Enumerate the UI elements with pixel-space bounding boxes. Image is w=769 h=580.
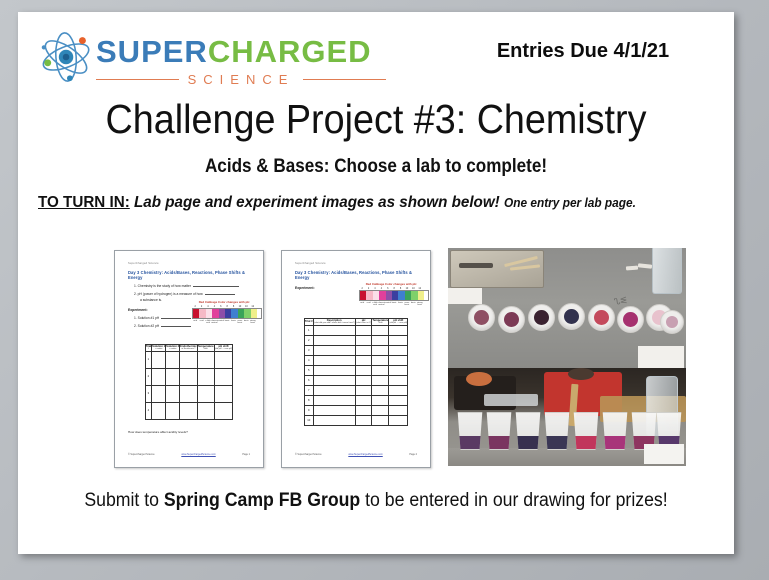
ws2-th: pH(what color is it?) — [355, 319, 372, 326]
ws2-cell[interactable]: 7 — [304, 385, 313, 395]
table-row[interactable]: 4 — [145, 402, 233, 419]
ws2-cell[interactable] — [355, 395, 372, 405]
logo-science-line: SCIENCE — [96, 70, 386, 88]
cup-side-5 — [572, 412, 600, 450]
page-subtitle: Acids & Bases: Choose a lab to complete! — [54, 156, 698, 178]
submit-before: Submit to — [84, 490, 164, 511]
ws2-cell[interactable] — [313, 365, 355, 375]
worksheet-page-2[interactable]: SuperCharged Science Day 3 Chemistry: Ac… — [281, 250, 431, 468]
table-row[interactable]: 9 — [304, 405, 407, 415]
cup-side-2 — [485, 412, 513, 450]
ws1-ph-chart: Red Cabbage Color changes with pH 224468… — [186, 300, 262, 324]
ws2-cell[interactable] — [313, 345, 355, 355]
ws2-cell[interactable] — [313, 385, 355, 395]
worksheet-page-1[interactable]: SuperCharged Science Day 3 Chemistry: Ac… — [114, 250, 264, 468]
table-row[interactable]: 3 — [304, 345, 407, 355]
ws2-cell[interactable] — [355, 335, 372, 345]
ws2-cell[interactable] — [389, 415, 408, 425]
cup-overhead-2 — [498, 306, 525, 333]
ws2-cell[interactable] — [389, 335, 408, 345]
ws2-table-header-row: Trial #Description(what did you add? whe… — [304, 319, 407, 326]
ws2-cell[interactable] — [372, 375, 389, 385]
logo-rule-right — [303, 79, 386, 80]
slide-card: SUPERCHARGED SCIENCE Entries Due 4/1/21 … — [18, 12, 734, 554]
ws2-cell[interactable]: 8 — [304, 395, 313, 405]
ws2-table-body: 12345678910 — [304, 325, 407, 425]
ws2-cell[interactable]: 6 — [304, 375, 313, 385]
ws2-cell[interactable] — [389, 365, 408, 375]
ws1-solution-2: 2. Solution #2 pH — [134, 324, 258, 328]
ws2-th: pH shift(old pH → new pH) — [389, 319, 408, 326]
cup-side-4 — [543, 412, 571, 450]
ws2-cell[interactable] — [389, 375, 408, 385]
ws2-cell[interactable]: 5 — [304, 365, 313, 375]
ws2-table-wrap: Trial #Description(what did you add? whe… — [291, 318, 421, 426]
ws2-cell[interactable] — [389, 345, 408, 355]
photo-stack: ᔐᓬ — [448, 248, 686, 466]
ws1-item-1: 1. Chemistry is the study of how matter — [134, 284, 258, 288]
ws1-cell[interactable] — [180, 385, 197, 402]
logo-rule-left — [96, 79, 179, 80]
ws2-cell[interactable] — [372, 325, 389, 335]
ws1-cell[interactable] — [180, 368, 197, 385]
table-row[interactable]: 8 — [304, 395, 407, 405]
cup-side-6 — [601, 412, 629, 450]
ws2-cell[interactable] — [372, 385, 389, 395]
supercharged-science-logo: SUPERCHARGED SCIENCE — [30, 26, 395, 88]
ws1-cell[interactable] — [152, 351, 166, 368]
ws1-ph-numbers: 2244688101012 — [192, 305, 262, 308]
ws1-footer: © Supercharged Science www.SuperchargedS… — [128, 453, 250, 456]
ws2-footer-page: Page 2 — [409, 453, 417, 456]
photo-tray — [450, 250, 544, 288]
ws1-cell[interactable] — [166, 351, 180, 368]
table-row[interactable]: 2 — [304, 335, 407, 345]
turn-in-note: One entry per lab page. — [504, 196, 636, 210]
ws1-ph-chart-title: Red Cabbage Color changes with pH — [186, 300, 262, 304]
table-row[interactable]: 6 — [304, 375, 407, 385]
ws2-cell[interactable] — [355, 415, 372, 425]
ws2-cell[interactable] — [355, 385, 372, 395]
ws2-cell[interactable] — [313, 335, 355, 345]
ws2-cell[interactable] — [313, 395, 355, 405]
turn-in-main: Lab page and experiment images as shown … — [134, 194, 500, 211]
ws2-cell[interactable] — [389, 385, 408, 395]
cup-side-1 — [456, 412, 484, 450]
ws2-cell[interactable] — [372, 405, 389, 415]
ws1-cell[interactable] — [180, 402, 197, 419]
ws1-ph-strip — [192, 308, 262, 319]
ws1-cell[interactable] — [166, 385, 180, 402]
ws1-table-body: 1234 — [145, 351, 233, 419]
logo-word-super: SUPER — [96, 34, 208, 69]
ws1-cell[interactable] — [152, 385, 166, 402]
photo-cups-side[interactable] — [448, 368, 686, 466]
ws2-cell[interactable] — [389, 355, 408, 365]
atom-icon — [38, 30, 96, 84]
ws2-ph-chart: Red Cabbage Color changes with pH 224468… — [353, 282, 429, 306]
cup-overhead-6 — [617, 306, 644, 333]
ws1-cell[interactable] — [197, 351, 214, 368]
turn-in-instructions: TO TURN IN: Lab page and experiment imag… — [38, 194, 703, 212]
ws2-cell[interactable] — [313, 355, 355, 365]
ws2-cell[interactable] — [355, 405, 372, 415]
page-title: Challenge Project #3: Chemistry — [47, 96, 706, 143]
ws2-cell[interactable] — [313, 415, 355, 425]
cup-overhead-4 — [558, 303, 585, 330]
ws2-cell[interactable] — [313, 325, 355, 335]
ws2-footer: © Supercharged Science www.SuperchargedS… — [295, 453, 417, 456]
ws1-footer-page: Page 1 — [242, 453, 250, 456]
table-row[interactable]: 1 — [145, 351, 233, 368]
ws1-item-2: 2. pH (power of hydrogen) is a measure o… — [134, 292, 258, 296]
ws1-cell[interactable] — [180, 351, 197, 368]
ws2-cell[interactable] — [372, 345, 389, 355]
ws2-cell[interactable] — [355, 375, 372, 385]
photo-cups-overhead[interactable]: ᔐᓬ — [448, 248, 686, 368]
table-row[interactable]: 7 — [304, 385, 407, 395]
ws2-cell[interactable] — [389, 405, 408, 415]
ws1-th: Endothermicor Exothermic? — [180, 345, 197, 352]
submit-after: to be entered in our drawing for prizes! — [360, 490, 667, 511]
ws2-cell[interactable]: 9 — [304, 405, 313, 415]
ws2-heading: Day 3 Chemistry: Acids/Bases, Reactions,… — [295, 270, 425, 280]
ws1-heading: Day 3 Chemistry: Acids/Bases, Reactions,… — [128, 270, 258, 280]
table-row[interactable]: 1 — [304, 325, 407, 335]
ws1-brand: SuperCharged Science — [128, 262, 258, 265]
ws2-cell[interactable] — [372, 395, 389, 405]
table-row[interactable]: 4 — [304, 355, 407, 365]
cup-overhead-5 — [588, 304, 615, 331]
ws1-table-header-row: Trial#Solution 1+ matterSolution 2+ matt… — [145, 345, 233, 352]
ws1-cell[interactable] — [197, 385, 214, 402]
logo-word-science: SCIENCE — [188, 72, 295, 87]
table-row[interactable]: 3 — [145, 385, 233, 402]
ws2-cell[interactable] — [355, 365, 372, 375]
cup-side-3 — [514, 412, 542, 450]
entries-due-text: Entries Due 4/1/21 — [448, 40, 718, 63]
ws1-cell[interactable] — [197, 368, 214, 385]
ws1-cell[interactable] — [214, 368, 233, 385]
media-row: SuperCharged Science Day 3 Chemistry: Ac… — [76, 234, 686, 456]
submit-instructions: Submit to Spring Camp FB Group to be ent… — [43, 490, 709, 512]
ws2-cell[interactable] — [372, 415, 389, 425]
ws2-cell[interactable] — [355, 355, 372, 365]
ws1-footer-url[interactable]: www.SuperchargedScience.com — [181, 453, 215, 456]
ws1-table[interactable]: Trial#Solution 1+ matterSolution 2+ matt… — [145, 344, 234, 420]
ws1-cell[interactable] — [214, 385, 233, 402]
ws1-cell[interactable] — [152, 368, 166, 385]
ws2-cell[interactable] — [355, 345, 372, 355]
ws2-cell[interactable]: 10 — [304, 415, 313, 425]
ws2-cell[interactable] — [372, 365, 389, 375]
ws1-cell[interactable] — [166, 368, 180, 385]
ws2-cell[interactable] — [313, 375, 355, 385]
ws2-footer-copyright: © Supercharged Science — [295, 453, 322, 456]
ws2-cell[interactable]: 3 — [304, 345, 313, 355]
cup-overhead-8 — [660, 310, 684, 334]
table-row[interactable]: 5 — [304, 365, 407, 375]
ws1-cell[interactable] — [214, 402, 233, 419]
ws2-ph-chart-title: Red Cabbage Color changes with pH — [353, 282, 429, 286]
ws2-ph-numbers: 2244688101012 — [359, 287, 429, 290]
ws2-cell[interactable] — [355, 325, 372, 335]
ws1-cell[interactable] — [152, 402, 166, 419]
submit-group-name: Spring Camp FB Group — [164, 490, 360, 511]
logo-wordmark: SUPERCHARGED — [96, 34, 372, 70]
turn-in-label: TO TURN IN: — [38, 194, 130, 211]
ws2-cell[interactable] — [389, 325, 408, 335]
cup-overhead-3 — [528, 304, 555, 331]
ws2-cell[interactable] — [372, 335, 389, 345]
ws2-cell[interactable]: 2 — [304, 335, 313, 345]
ws2-ph-strip — [359, 290, 429, 301]
ws2-footer-url[interactable]: www.SuperchargedScience.com — [348, 453, 382, 456]
ws2-table[interactable]: Trial #Description(what did you add? whe… — [304, 318, 408, 426]
ws1-footer-copyright: © Supercharged Science — [128, 453, 155, 456]
ws1-cell[interactable] — [166, 402, 180, 419]
table-row[interactable]: 2 — [145, 368, 233, 385]
ws1-th: pH shift(old pH → new pH) — [214, 345, 233, 352]
ws1-cell[interactable] — [197, 402, 214, 419]
ws2-ph-labels: acidacida little acidalmost neutralneutr… — [359, 302, 429, 306]
ws1-question: How does temperature affect acidity leve… — [128, 430, 188, 434]
ws2-th: Description(what did you add? where did … — [313, 319, 355, 326]
table-row[interactable]: 10 — [304, 415, 407, 425]
cup-overhead-1 — [468, 304, 495, 331]
ws2-cell[interactable]: 1 — [304, 325, 313, 335]
ws2-cell[interactable] — [372, 355, 389, 365]
ws2-cell[interactable]: 4 — [304, 355, 313, 365]
logo-word-charged: CHARGED — [208, 34, 372, 69]
ws2-cell[interactable] — [313, 405, 355, 415]
ws1-cell[interactable] — [214, 351, 233, 368]
ws2-brand: SuperCharged Science — [295, 262, 425, 265]
ws1-table-wrap: Trial#Solution 1+ matterSolution 2+ matt… — [124, 344, 254, 420]
ws2-cell[interactable] — [389, 395, 408, 405]
ws1-ph-labels: acidacida little acidalmost neutralneutr… — [192, 320, 262, 324]
